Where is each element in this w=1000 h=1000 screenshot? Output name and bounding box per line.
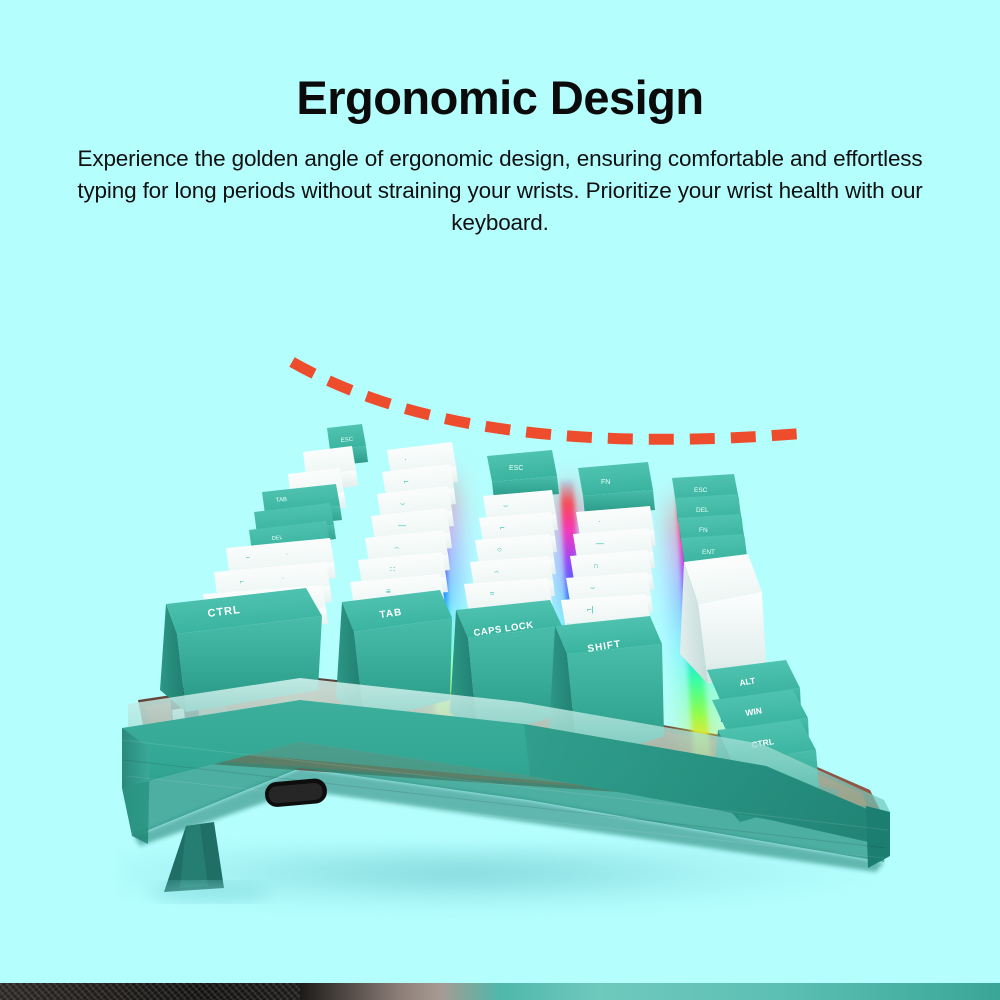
svg-text:·: · [598,517,601,526]
key-legend: ENT [702,549,715,556]
key-legend: DEL [696,507,709,514]
svg-text:≈: ≈ [490,589,495,598]
svg-text:·: · [404,455,407,464]
key-column-1[interactable]: ESC TAB DEL ~ [160,424,368,712]
svg-text:⌐|: ⌐| [587,605,594,614]
key-legend: DEL [272,535,283,542]
bottom-image-sliver [0,983,1000,1000]
svg-text:⌣: ⌣ [503,501,508,510]
svg-text:⌢: ⌢ [394,543,399,552]
svg-text:—: — [398,521,406,530]
svg-text:≡: ≡ [386,587,391,596]
svg-text:⌐: ⌐ [500,523,505,532]
key-legend: FN [601,479,610,486]
svg-text:⌐: ⌐ [240,579,245,586]
svg-text:○: ○ [497,545,502,554]
key-legend: ESC [694,487,708,494]
sliver-texture [0,983,300,1000]
svg-text:∩: ∩ [593,561,599,570]
svg-text:—: — [596,539,604,548]
key-legend: FN [699,527,708,534]
key-legend: TAB [276,497,288,504]
svg-text:⌐: ⌐ [404,477,409,486]
svg-text:∷: ∷ [390,565,395,574]
svg-text:⌢: ⌢ [494,567,499,576]
svg-text:⌣: ⌣ [400,499,405,508]
svg-text:~: ~ [246,555,251,562]
svg-text:⌣: ⌣ [590,583,595,592]
keyboard-product-image: ESC TAB DEL ~ [0,0,1000,1000]
key-legend: ESC [509,465,523,472]
